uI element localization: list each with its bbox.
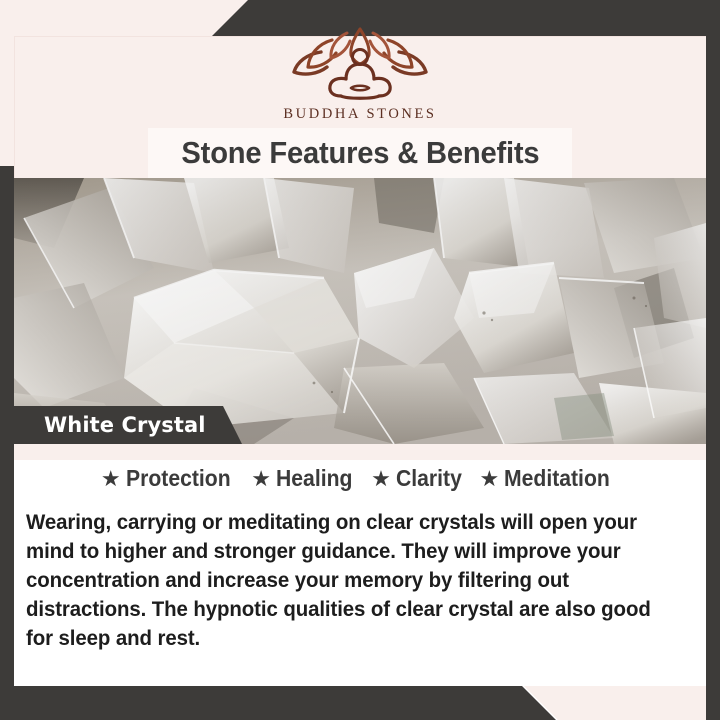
benefit-item-meditation: ★ Meditation <box>479 465 619 492</box>
description-text: Wearing, carrying or meditating on clear… <box>26 508 661 653</box>
benefits-row: ★ Protection ★ Healing ★ Clarity ★ Medit… <box>14 465 706 492</box>
benefit-label: Protection <box>126 465 231 492</box>
brand-logo: BUDDHA STONES <box>0 24 720 123</box>
benefit-item-protection: ★ Protection <box>101 465 239 492</box>
stone-name-label: White Crystal <box>14 406 242 444</box>
product-info-card: BUDDHA STONES Stone Features & Benefits <box>0 0 720 720</box>
brand-name: BUDDHA STONES <box>0 106 720 123</box>
product-image <box>14 178 706 444</box>
page-title: Stone Features & Benefits <box>181 135 539 171</box>
cream-divider-strip <box>14 444 706 460</box>
benefit-item-clarity: ★ Clarity <box>371 465 467 492</box>
benefit-label: Meditation <box>504 465 610 492</box>
benefit-label: Healing <box>276 465 352 492</box>
lotus-meditating-buddha-icon <box>0 24 720 102</box>
star-icon: ★ <box>251 468 271 490</box>
frame-accent-left <box>0 166 14 720</box>
star-icon: ★ <box>101 468 121 490</box>
title-banner: Stone Features & Benefits <box>148 128 572 178</box>
star-icon: ★ <box>371 468 391 490</box>
star-icon: ★ <box>479 468 499 490</box>
benefit-label: Clarity <box>396 465 462 492</box>
benefit-item-healing: ★ Healing <box>251 465 359 492</box>
stone-name-text: White Crystal <box>14 413 206 437</box>
